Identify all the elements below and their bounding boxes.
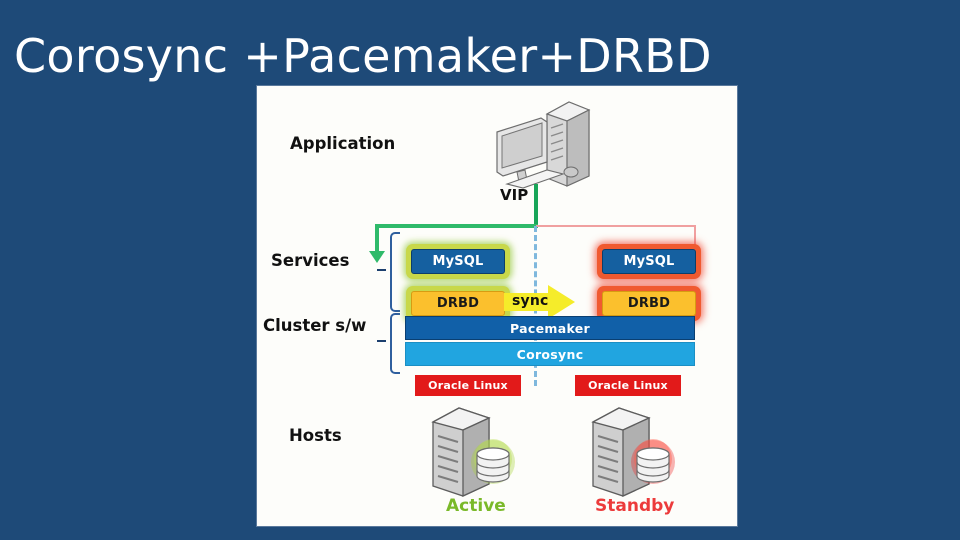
desktop-computer-icon [489,94,595,192]
os-badge-active: Oracle Linux [415,375,521,396]
cluster-bar-corosync[interactable]: Corosync [405,342,695,366]
vip-active-arrowhead-icon [369,251,385,263]
cluster-bar-pacemaker[interactable]: Pacemaker [405,316,695,340]
vip-standby-line-horizontal [536,225,696,227]
os-badge-standby: Oracle Linux [575,375,681,396]
label-vip: VIP [500,186,528,204]
service-mysql-standby-label: MySQL [602,249,696,274]
service-mysql-active[interactable]: MySQL [406,244,510,279]
vip-active-line-horizontal [375,224,538,228]
brace-services [390,232,400,312]
service-drbd-active-label: DRBD [411,291,505,316]
brace-dash-services [377,269,386,271]
label-hosts: Hosts [289,426,342,445]
host-active [427,404,527,500]
diagram-panel: Application Services Cluster s/w Hosts [257,86,737,526]
label-cluster-sw: Cluster s/w [263,316,366,335]
slide-root: Corosync +Pacemaker+DRBD Application Ser… [0,0,960,540]
sync-label: sync [512,293,549,309]
brace-dash-cluster [377,340,386,342]
brace-cluster [390,313,400,374]
service-mysql-standby[interactable]: MySQL [597,244,701,279]
host-state-active: Active [446,496,506,516]
label-services: Services [271,251,349,270]
cluster-bar-pacemaker-label: Pacemaker [510,321,590,336]
vip-active-line-vertical [534,184,538,228]
label-application: Application [290,134,395,153]
page-title: Corosync +Pacemaker+DRBD [14,26,712,86]
service-drbd-standby-label: DRBD [602,291,696,316]
cluster-bar-corosync-label: Corosync [517,347,584,362]
service-mysql-active-label: MySQL [411,249,505,274]
host-standby [587,404,687,500]
host-state-standby: Standby [595,496,674,516]
vip-active-line-drop [375,224,379,254]
